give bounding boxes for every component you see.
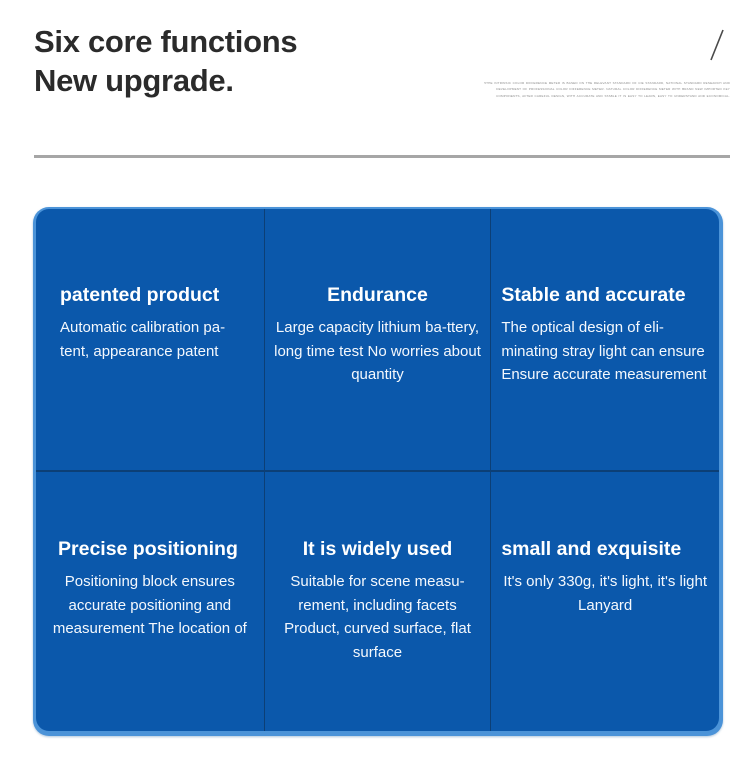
feature-card-endurance[interactable]: Endurance Large capacity lithium ba-tter… [264, 209, 492, 470]
feature-card-stable-and-accurate[interactable]: Stable and accurate The optical design o… [491, 209, 719, 470]
feature-card-description: Positioning block ensures accurate posit… [46, 570, 254, 641]
page-title-line-1: Six core functions [34, 24, 297, 59]
feature-grid-panel: patented product Automatic calibration p… [33, 207, 723, 736]
feature-card-title: Precise positioning [46, 537, 254, 561]
feature-overview-page: Six core functions New upgrade. 5THE INT… [0, 0, 750, 777]
feature-card-title: small and exquisite [501, 537, 709, 561]
feature-card-description: Suitable for scene measu-rement, includi… [274, 570, 482, 664]
feature-card-precise-positioning[interactable]: Precise positioning Positioning block en… [36, 470, 264, 731]
feature-card-description: Large capacity lithium ba-ttery, long ti… [274, 316, 482, 387]
feature-grid: patented product Automatic calibration p… [36, 209, 719, 731]
page-header: Six core functions New upgrade. 5THE INT… [0, 0, 750, 160]
header-divider [34, 155, 730, 158]
feature-card-title: Stable and accurate [501, 283, 709, 307]
page-title-line-2: New upgrade. [34, 61, 297, 100]
feature-card-widely-used[interactable]: It is widely used Suitable for scene mea… [264, 470, 492, 731]
feature-card-description: It's only 330g, it's light, it's light L… [501, 570, 709, 617]
feature-card-title: patented product [46, 283, 254, 307]
feature-card-title: Endurance [274, 283, 482, 307]
feature-card-title: It is widely used [274, 537, 482, 561]
forward-slash-icon [706, 28, 728, 62]
page-title: Six core functions New upgrade. [34, 22, 297, 100]
feature-card-description: Automatic calibration pa-tent, appearanc… [46, 316, 254, 363]
feature-card-patented-product[interactable]: patented product Automatic calibration p… [36, 209, 264, 470]
feature-card-description: The optical design of eli-minating stray… [501, 316, 709, 387]
feature-card-small-and-exquisite[interactable]: small and exquisite It's only 330g, it's… [491, 470, 719, 731]
intro-paragraph: 5THE INTRINSIC COLOR DIFFERENCE METER IS… [478, 80, 730, 99]
